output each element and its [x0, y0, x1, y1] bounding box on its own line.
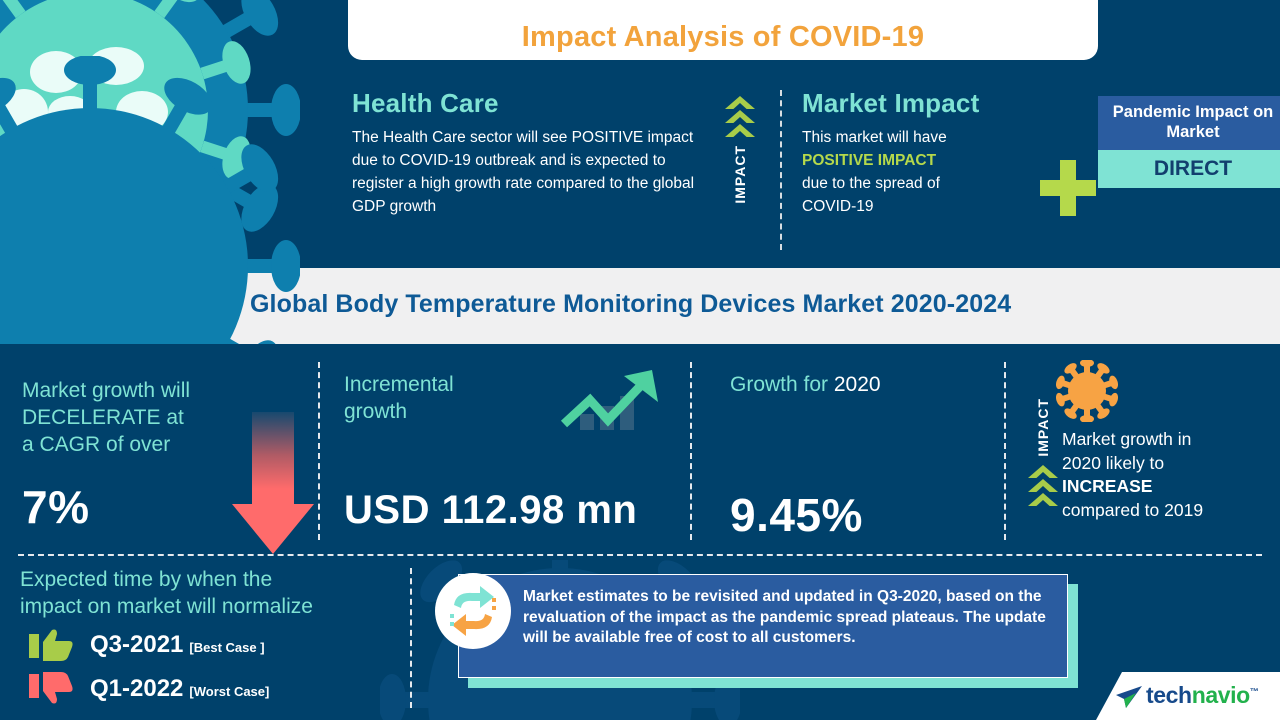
cagr-label-line3: a CAGR of over	[22, 433, 170, 456]
impact-rail-header: IMPACT	[712, 96, 768, 246]
thumbs-up-icon	[28, 628, 74, 662]
coronavirus-orange-icon	[1056, 360, 1118, 422]
title-card: Impact Analysis of COVID-19	[348, 0, 1098, 60]
growth-label-year: 2020	[834, 373, 881, 396]
infographic-root: Impact Analysis of COVID-19 Health Care …	[0, 0, 1280, 720]
cagr-label-line2: DECELERATE at	[22, 406, 184, 429]
impact-rail-stats: IMPACT	[1026, 398, 1060, 526]
market-impact-heading: Market Impact	[802, 88, 1092, 119]
divider-stats-bottom	[18, 554, 1262, 556]
cagr-label-line1: Market growth will	[22, 379, 190, 402]
growth-label-prefix: Growth for	[730, 373, 834, 396]
logo-text-navio: navio	[1192, 682, 1250, 708]
impact2020-line1: Market growth in	[1062, 429, 1191, 449]
divider-stats-2	[690, 362, 692, 540]
growth-2020-value: 9.45%	[730, 488, 863, 542]
impact2020-emphasis: INCREASE	[1062, 476, 1152, 496]
incremental-value: USD 112.98 mn	[344, 488, 637, 533]
technavio-logo: technavio™	[1096, 672, 1280, 720]
thumbs-down-icon	[28, 672, 74, 706]
chevron-up-icon	[725, 96, 755, 137]
incremental-label-line1: Incremental	[344, 373, 454, 396]
stat-growth-2020: Growth for 2020 9.45%	[730, 372, 1010, 399]
expected-time-title: Expected time by when the impact on mark…	[20, 566, 430, 621]
pandemic-impact-heading: Pandemic Impact on Market	[1098, 96, 1280, 150]
note-box: Market estimates to be revisited and upd…	[458, 574, 1068, 678]
logo-text-tech: tech	[1146, 682, 1192, 708]
market-title-band: Global Body Temperature Monitoring Devic…	[0, 268, 1280, 344]
impact-label: IMPACT	[732, 145, 748, 204]
healthcare-section: Health Care The Health Care sector will …	[352, 88, 702, 219]
market-impact-line3: COVID-19	[802, 198, 874, 215]
refresh-cycle-icon	[434, 572, 512, 650]
divider-header	[780, 90, 782, 250]
impact2020-line3: compared to 2019	[1062, 500, 1203, 520]
case-row-worst: Q1-2022[Worst Case]	[28, 672, 269, 706]
healthcare-body: The Health Care sector will see POSITIVE…	[352, 127, 702, 219]
arrow-down-icon	[228, 408, 324, 556]
technavio-mark-icon	[1116, 686, 1142, 708]
impact-label-stats: IMPACT	[1035, 398, 1051, 457]
impact2020-line2: 2020 likely to	[1062, 453, 1164, 473]
incremental-label-line2: growth	[344, 400, 407, 423]
market-title: Global Body Temperature Monitoring Devic…	[250, 290, 1011, 319]
case-tag-worst: [Worst Case]	[189, 684, 269, 699]
case-quarter-worst: Q1-2022	[90, 675, 183, 702]
logo-trademark: ™	[1250, 686, 1259, 696]
stat-impact-2020: Market growth in 2020 likely to INCREASE…	[1062, 428, 1272, 523]
cagr-value: 7%	[22, 480, 89, 534]
market-impact-line2: due to the spread of	[802, 175, 940, 192]
pandemic-impact-value: DIRECT	[1098, 150, 1280, 188]
expected-title-line2: impact on market will normalize	[20, 595, 313, 618]
case-quarter-best: Q3-2021	[90, 631, 183, 658]
plus-icon	[1040, 160, 1096, 216]
healthcare-heading: Health Care	[352, 88, 702, 119]
divider-bottom	[410, 568, 412, 708]
market-impact-highlight: POSITIVE IMPACT	[802, 152, 936, 169]
case-tag-best: [Best Case ]	[189, 640, 264, 655]
page-title: Impact Analysis of COVID-19	[522, 21, 924, 54]
chevron-up-icon-stats	[1028, 465, 1058, 506]
expected-title-line1: Expected time by when the	[20, 568, 272, 591]
market-impact-line1: This market will have	[802, 129, 947, 146]
stat-cagr: Market growth will DECELERATE at a CAGR …	[22, 378, 262, 459]
growth-chart-arrow-icon	[556, 366, 668, 436]
pandemic-impact-box: Pandemic Impact on Market DIRECT	[1098, 96, 1280, 188]
case-row-best: Q3-2021[Best Case ]	[28, 628, 265, 662]
